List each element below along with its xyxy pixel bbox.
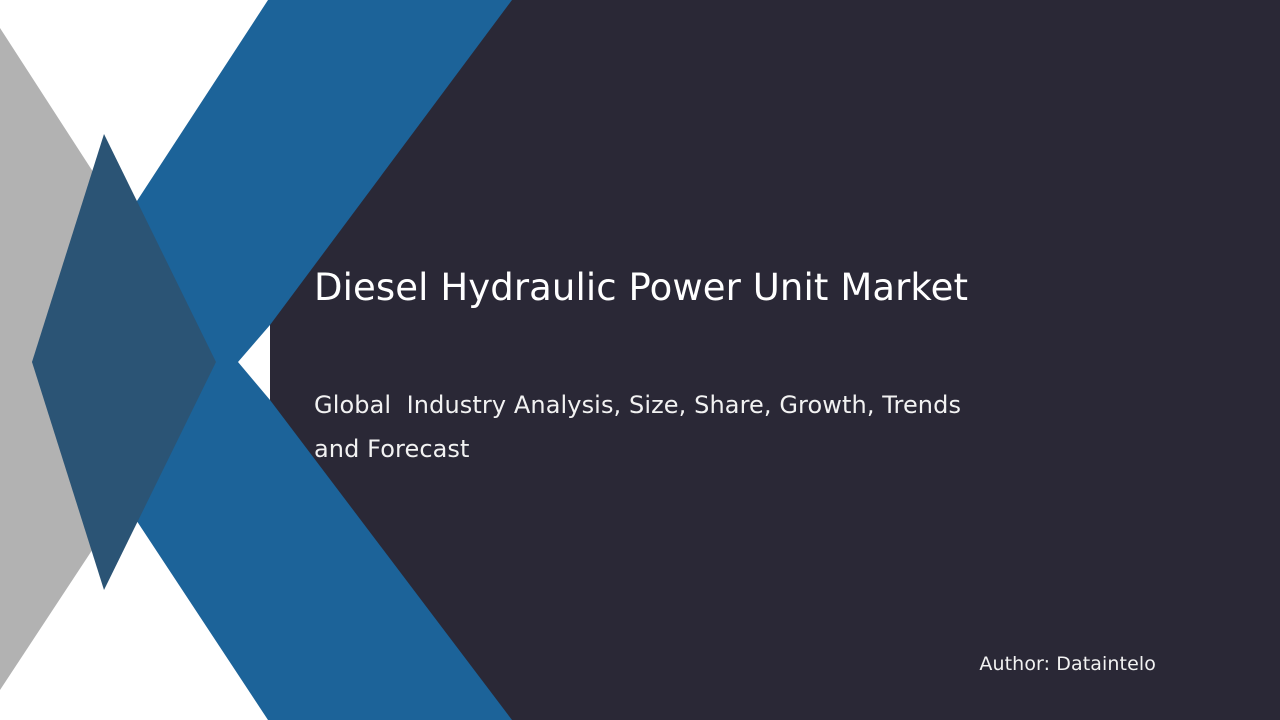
- slide-subtitle: Global Industry Analysis, Size, Share, G…: [314, 383, 1014, 471]
- author-label: Author: Dataintelo: [700, 650, 1156, 678]
- slide-content: Diesel Hydraulic Power Unit Market Globa…: [0, 0, 1280, 720]
- page-title: Diesel Hydraulic Power Unit Market: [314, 262, 1114, 314]
- title-slide: Diesel Hydraulic Power Unit Market Globa…: [0, 0, 1280, 720]
